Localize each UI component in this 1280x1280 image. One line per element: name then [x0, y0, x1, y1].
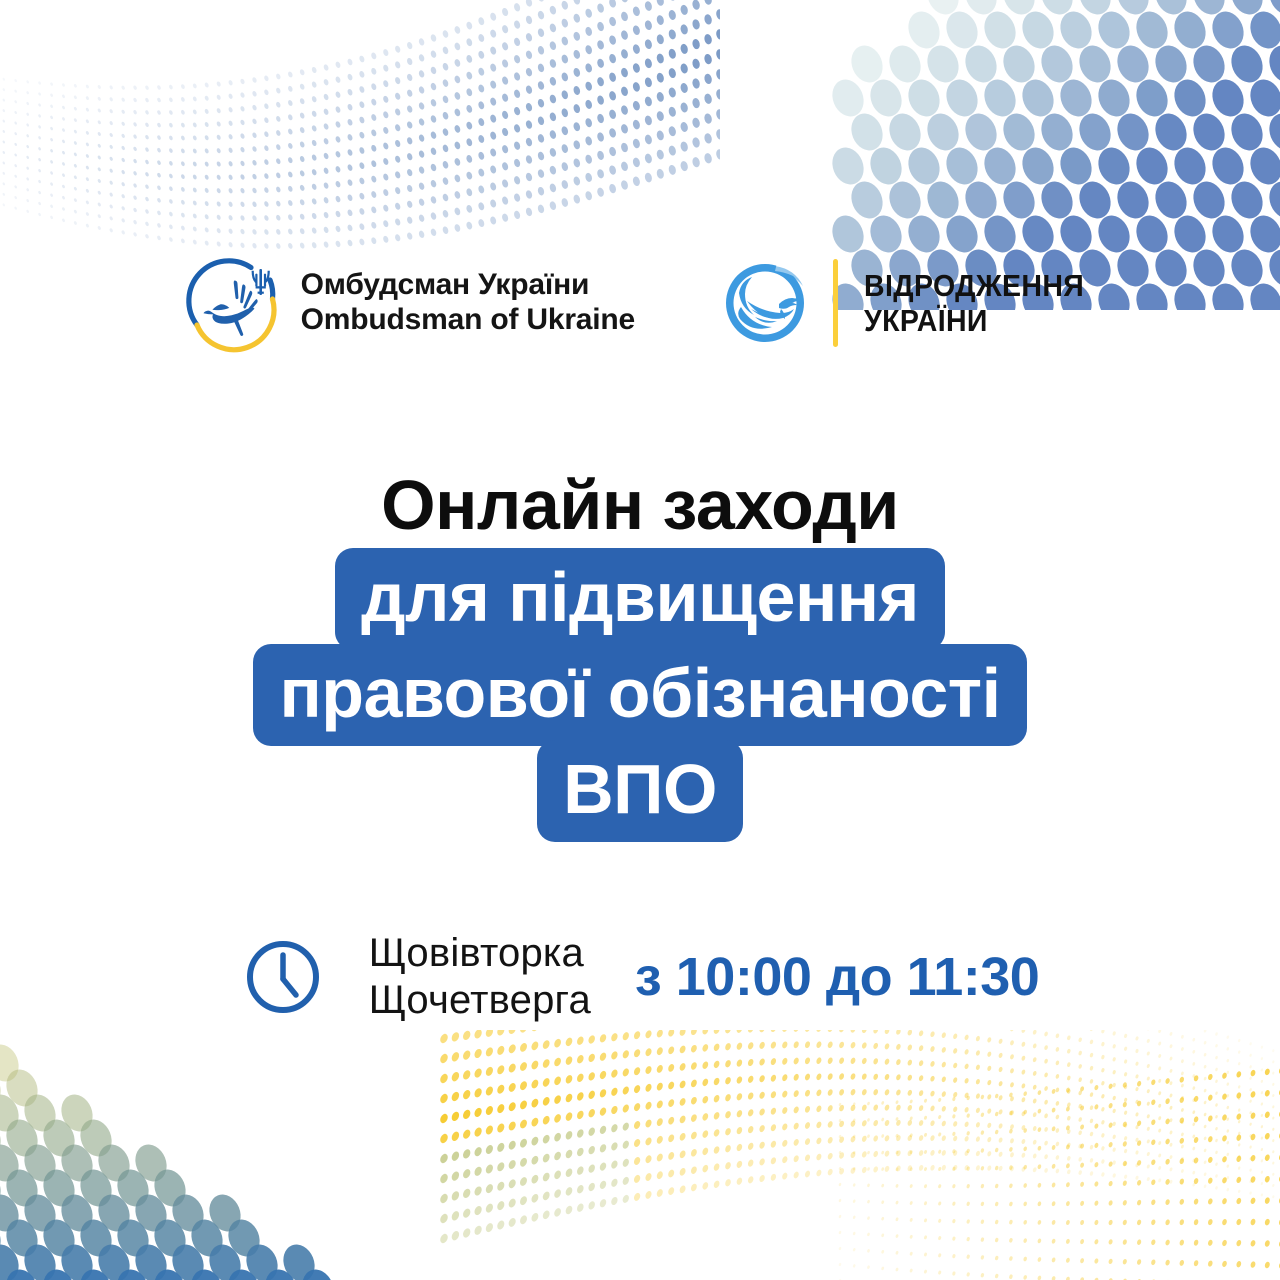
headline-highlight-row-2: правової обізнаності: [0, 644, 1280, 746]
headline-highlight-1: для підвищення: [335, 548, 945, 650]
schedule-day-1: Щовівторка: [369, 930, 591, 977]
vidrodzhennya-title-line1: ВІДРОДЖЕННЯ: [864, 268, 1084, 303]
dove-hand-icon: [203, 281, 257, 336]
trident-icon: [251, 269, 269, 295]
ombudsman-title-en: Ombudsman of Ukraine: [301, 303, 635, 338]
phoenix-bird-icon: [719, 257, 811, 349]
ombudsman-logo: Омбудсман України Ombudsman of Ukraine: [177, 247, 635, 359]
schedule-block: Щовівторка Щочетверга з 10:00 до 11:30: [0, 930, 1280, 1024]
ombudsman-emblem-icon: [177, 247, 289, 359]
headline-block: Онлайн заходи для підвищення правової об…: [0, 470, 1280, 842]
headline-highlight-row-3: ВПО: [0, 740, 1280, 842]
logo-divider: [833, 259, 838, 347]
poster-canvas: Омбудсман України Ombudsman of Ukraine: [0, 0, 1280, 1280]
headline-highlight-3: ВПО: [537, 740, 743, 842]
ombudsman-title-uk: Омбудсман України: [301, 268, 635, 303]
headline-highlight-2: правової обізнаності: [253, 644, 1026, 746]
vidrodzhennya-logo: ВІДРОДЖЕННЯ УКРАЇНИ: [719, 257, 1103, 349]
clock-icon: [241, 935, 325, 1019]
vidrodzhennya-title-line2: УКРАЇНИ: [864, 303, 1084, 338]
headline-plain-line: Онлайн заходи: [0, 470, 1280, 540]
schedule-time: з 10:00 до 11:30: [635, 946, 1039, 1008]
headline-highlight-row-1: для підвищення: [0, 548, 1280, 650]
schedule-day-2: Щочетверга: [369, 977, 591, 1024]
decorative-dots-top-left: [0, 0, 720, 270]
decorative-dots-bottom-left: [0, 1030, 360, 1280]
logo-row: Омбудсман України Ombudsman of Ukraine: [0, 243, 1280, 363]
decorative-dots-bottom-right: [440, 1030, 1280, 1280]
ombudsman-wordmark: Омбудсман України Ombudsman of Ukraine: [301, 268, 635, 338]
schedule-days: Щовівторка Щочетверга: [369, 930, 591, 1024]
vidrodzhennya-wordmark: ВІДРОДЖЕННЯ УКРАЇНИ: [864, 268, 1103, 339]
